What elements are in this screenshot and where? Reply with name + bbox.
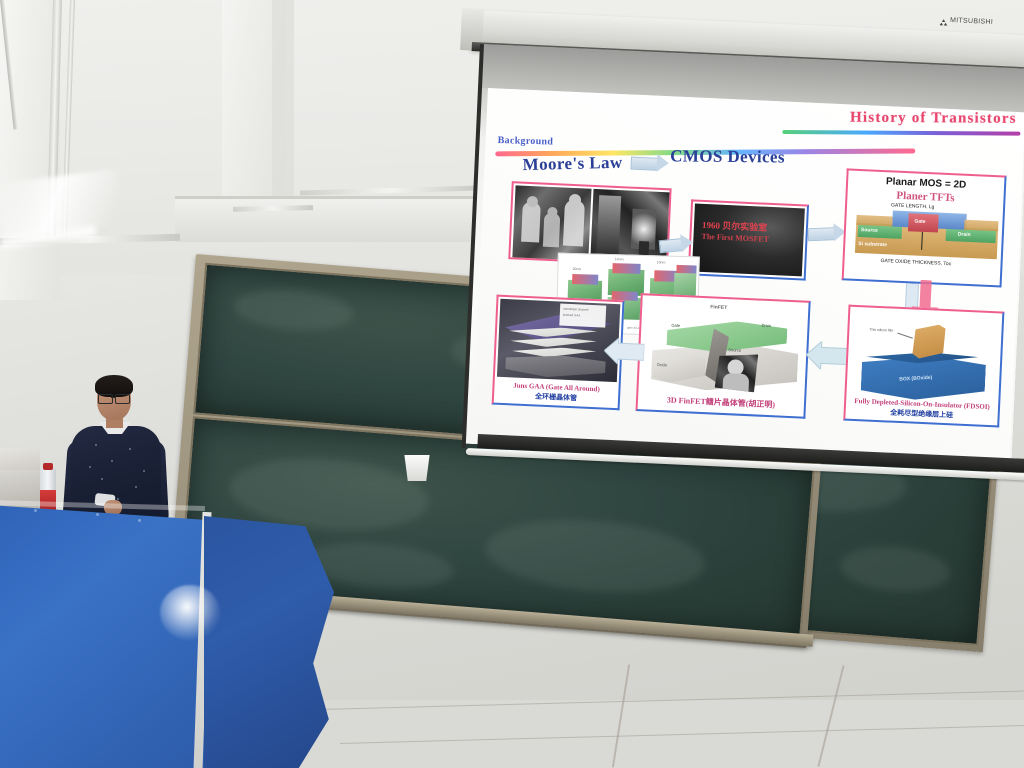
panel-planar-mos: Planar MOS = 2D Planer TFTs GATE LENGTH,… [842,168,1007,287]
panel-fdsoi: Thin silicon film BOX (BOxide) Fully Dep… [843,305,1004,428]
fdsoi-caption: Fully Depleted-Silicon-On-Insulator (FDS… [846,397,999,423]
wall-soffit [175,198,475,242]
finfet-gate-label: Gate [671,323,680,328]
drain-label: Drain [958,231,971,238]
source-label: Source [861,227,878,234]
glasses-bridge [111,397,116,398]
podium-light-glare [160,585,220,640]
substrate-label: Si substrate [858,241,887,248]
arrow-mosfet-to-planar [807,223,846,244]
bottle-cap [43,463,53,470]
slide-title: History of Transistors [850,110,1017,128]
podium-side-panel [204,516,334,768]
arrow-photos-to-mosfet [658,233,694,255]
gate-label: Gate [914,218,925,224]
finfet-oxide-label: Oxide [657,362,668,367]
slide-moores-law-label: Moore's Law [522,153,622,175]
projector-screen: MITSUBISHI History of Transistors Backgr… [452,4,1024,494]
presentation-slide: History of Transistors Background Moore'… [472,88,1024,460]
finfet-source-label: Source [728,347,741,353]
slide-cmos-devices-label: CMOS Devices [670,146,785,167]
finfet-drain-label: Drain [761,323,771,328]
arrow-moores-to-cmos [630,153,669,174]
soffit-edge [175,196,475,199]
panel-finfet: FinFET Gate Drain Source Oxide 3D FinFET… [635,293,810,419]
finfet-caption: 3D FinFET鳍片晶体管(胡正明) [638,394,804,412]
projector-brand-label: MITSUBISHI [950,17,993,26]
glasses-icon-right [115,394,130,404]
slide-background-label: Background [497,135,553,148]
fdsoi-thin-silicon-label: Thin silicon film [869,328,893,333]
lecture-hall-photo: MITSUBISHI History of Transistors Backgr… [0,0,1024,768]
oxide-thickness-label: GATE OXIDE THICKNESS, Tox [880,258,951,267]
gate-length-label: GATE LENGTH, Lg [891,202,934,210]
glasses-icon [98,394,113,404]
gaa-caption: Juns GAA (Gate All Around) 全环栅晶体管 [494,381,619,405]
arrow-finfet-to-gaa [604,338,645,366]
arrow-fdsoi-to-finfet [806,341,849,371]
mosfet-caption-label: The First MOSFET [701,232,769,244]
finfet-label: FinFET [710,304,727,311]
mitsubishi-logo-icon [939,19,948,27]
panel-first-mosfet: 1960 贝尔实验室 The First MOSFET [688,199,809,280]
